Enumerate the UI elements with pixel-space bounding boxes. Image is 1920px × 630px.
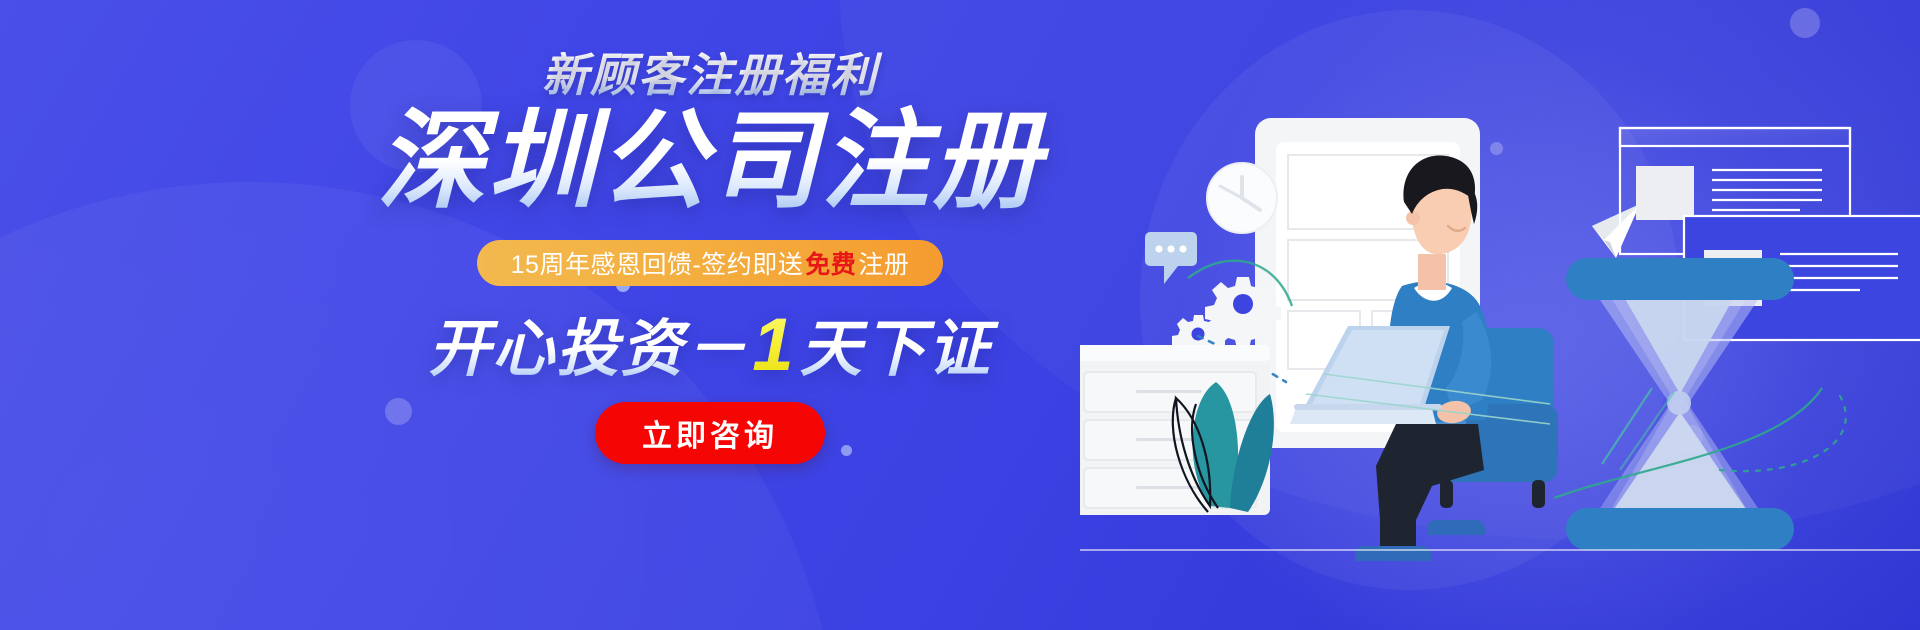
page-title: 深圳公司注册 bbox=[330, 104, 1090, 218]
banner-eyebrow: 新顾客注册福利 bbox=[330, 52, 1090, 98]
promo-prefix: 15周年感恩回馈-签约即送 bbox=[511, 245, 804, 281]
subline-number: 1 bbox=[748, 303, 799, 386]
subline-suffix: 天下证 bbox=[800, 315, 992, 384]
banner-subline: 开心投资－1天下证 bbox=[330, 308, 1090, 382]
subline-prefix: 开心投资－ bbox=[428, 315, 748, 384]
promo-highlight: 免费 bbox=[803, 245, 858, 281]
promo-pill: 15周年感恩回馈-签约即送免费注册 bbox=[477, 240, 944, 286]
banner-copy: 新顾客注册福利 深圳公司注册 15周年感恩回馈-签约即送免费注册 开心投资－1天… bbox=[330, 52, 1090, 464]
consult-now-button[interactable]: 立即咨询 bbox=[595, 402, 825, 464]
hero-illustration bbox=[1080, 0, 1920, 630]
promo-banner: 新顾客注册福利 深圳公司注册 15周年感恩回馈-签约即送免费注册 开心投资－1天… bbox=[0, 0, 1920, 630]
clock-icon bbox=[1207, 163, 1277, 233]
promo-suffix: 注册 bbox=[858, 245, 909, 281]
